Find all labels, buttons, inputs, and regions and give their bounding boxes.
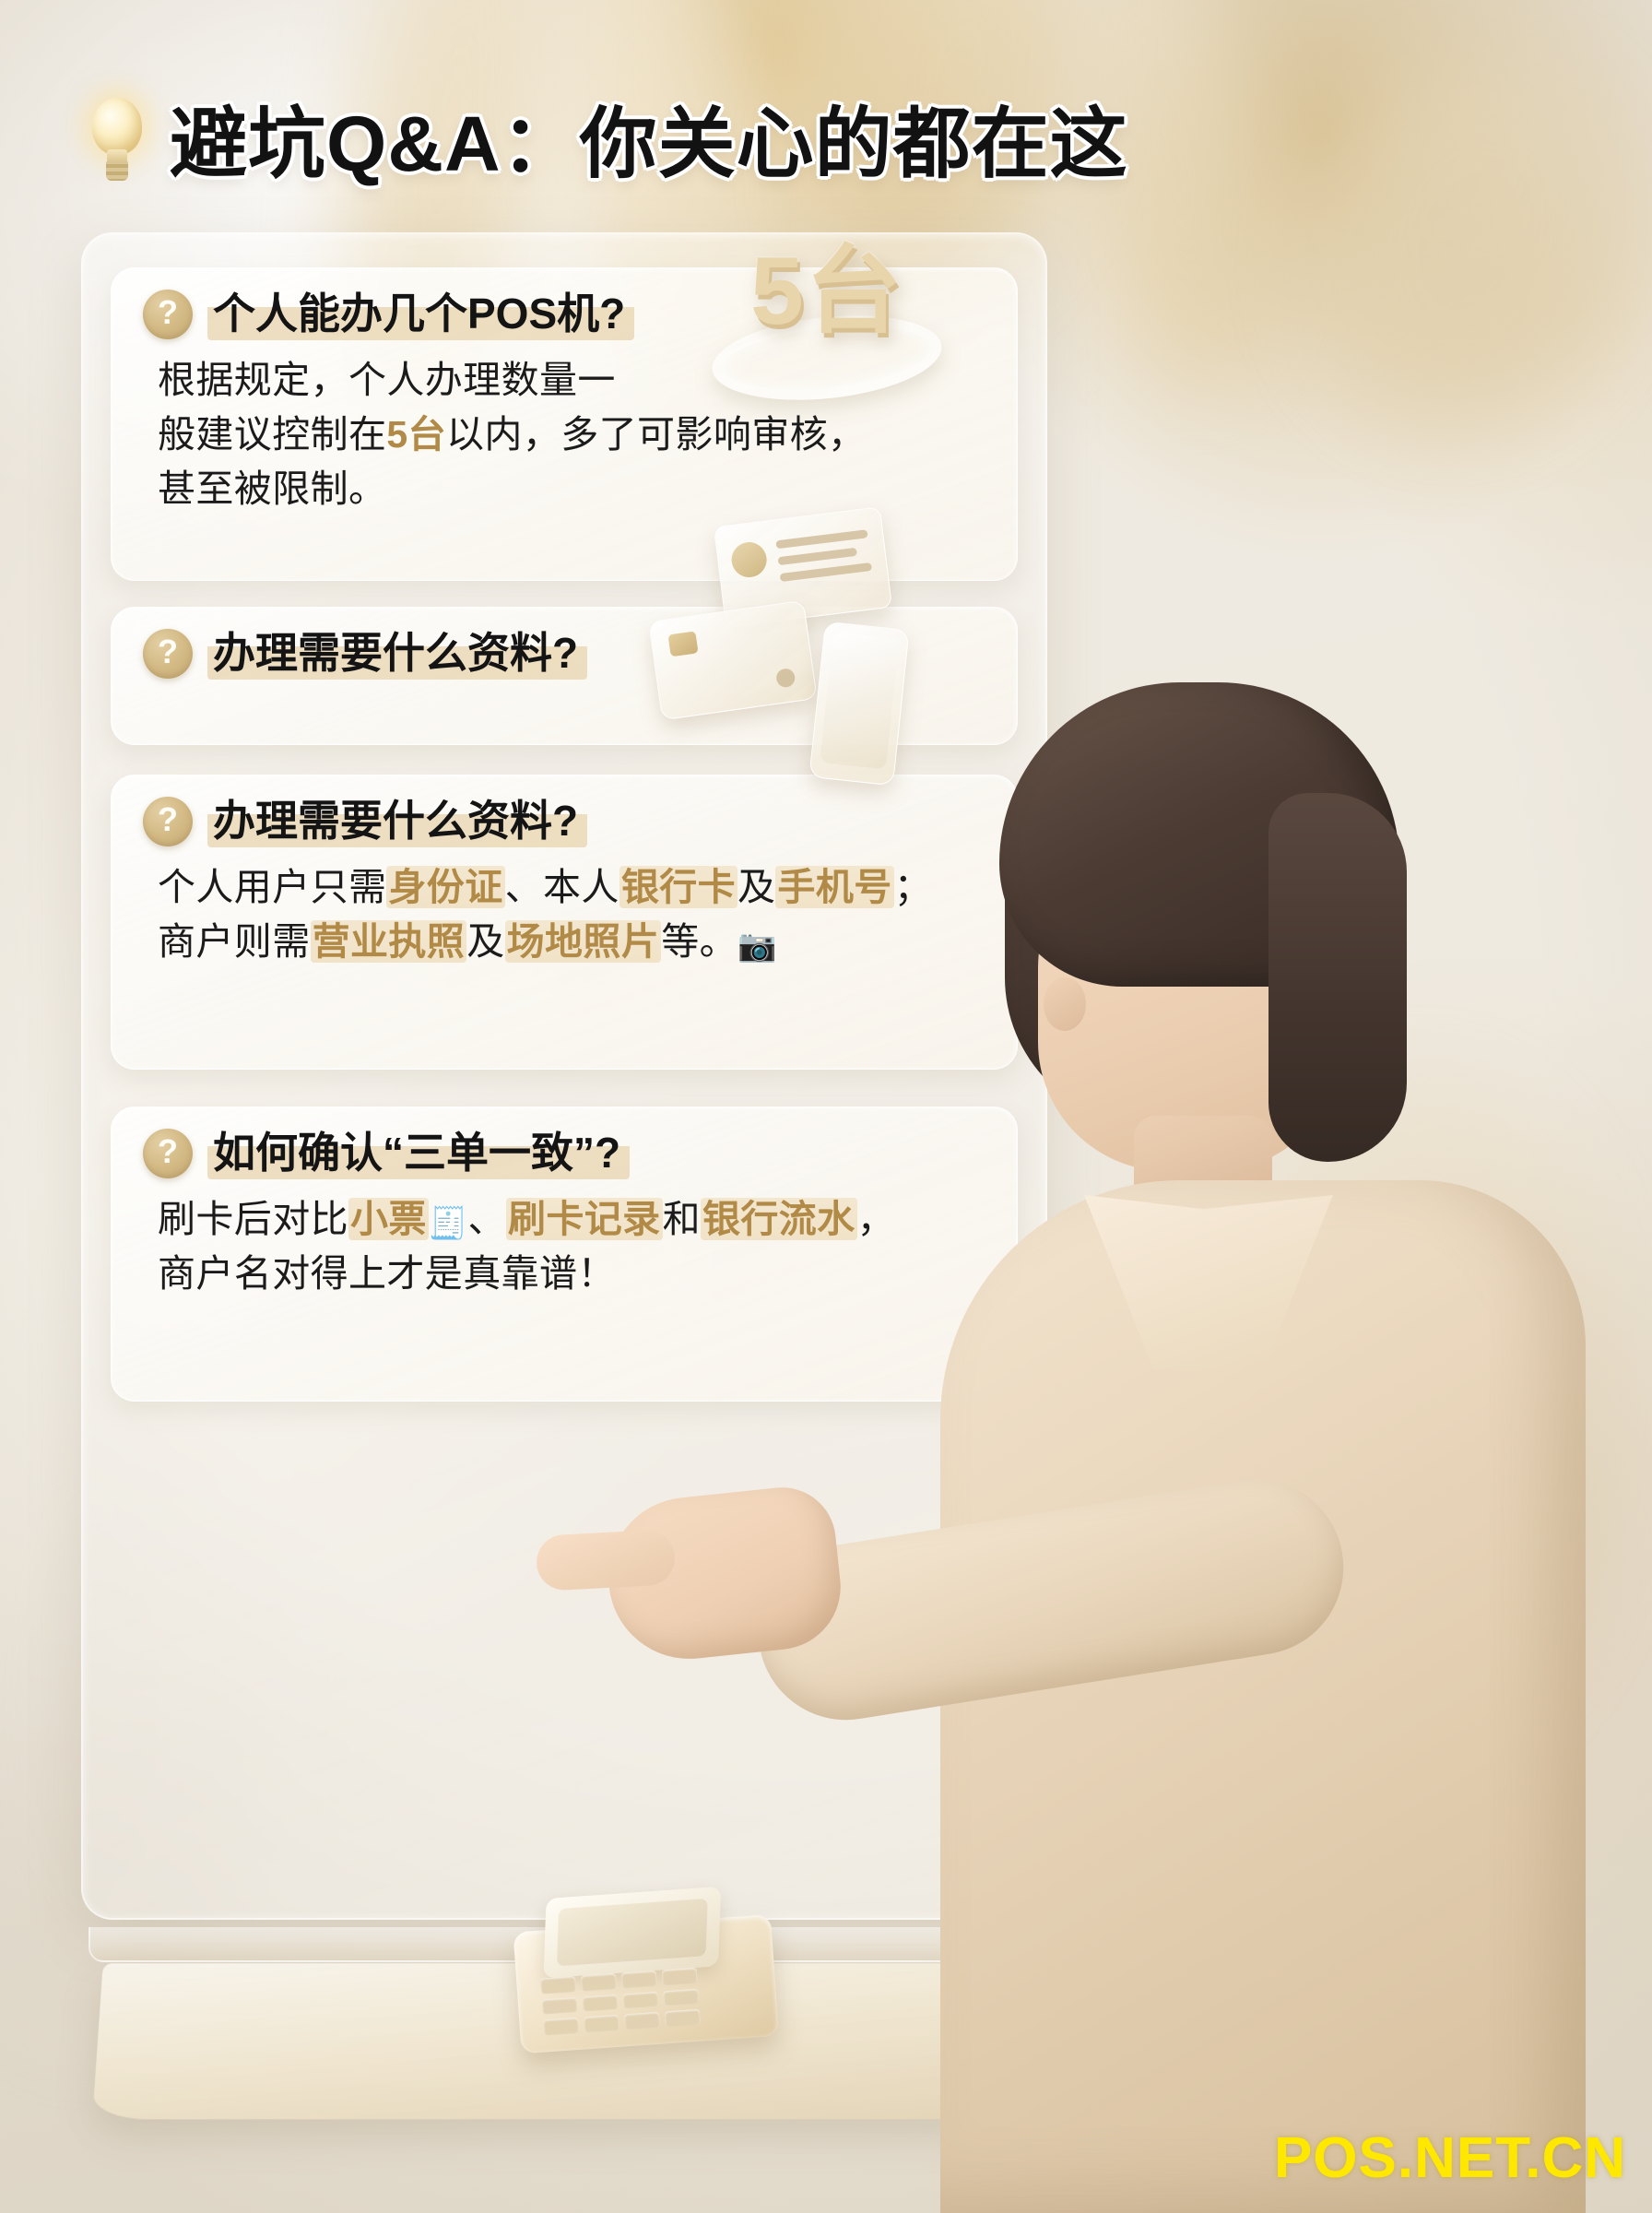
question-text: 如何确认“三单一致”? [207, 1128, 630, 1179]
answer-run: 及 [737, 866, 775, 908]
answer-highlight: 5台 [386, 413, 446, 456]
question-mark-icon: ? [143, 290, 193, 339]
question-mark-icon: ? [143, 797, 193, 846]
phone-icon [808, 621, 909, 787]
answer-run: 及 [466, 920, 504, 963]
lightbulb-icon [88, 96, 146, 192]
answer-highlight: 手机号 [775, 866, 893, 908]
answer-run: 、 [468, 1198, 506, 1240]
question-mark-icon: ? [143, 1129, 193, 1178]
answer-run: 以内，多了可影响审核， [446, 413, 866, 456]
question-row: ? 如何确认“三单一致”? [112, 1107, 1017, 1179]
answer-run: 般建议控制在 [158, 413, 386, 456]
question-text: 个人能办几个POS机? [207, 289, 634, 340]
question-text: 办理需要什么资料? [207, 628, 587, 680]
answer-run: 甚至被限制。 [158, 467, 386, 510]
five-units-decoration: 5台 [701, 238, 977, 413]
person-illustration [903, 682, 1652, 2213]
answer-highlight: 刷卡记录 [506, 1198, 663, 1240]
answer-run: 、本人 [505, 866, 619, 908]
answer-highlight: 营业执照 [311, 920, 467, 963]
answer-run: 根据规定，个人办理数量一 [158, 359, 616, 401]
question-text: 办理需要什么资料? [207, 796, 587, 847]
answer-line: 刷卡后对比小票🧾、刷卡记录和银行流水， [158, 1192, 980, 1247]
answer-line: 般建议控制在5台以内，多了可影响审核， [158, 408, 980, 462]
answer-highlight: 场地照片 [505, 920, 662, 963]
bank-card-icon [648, 600, 817, 721]
answer-text: 个人用户只需身份证、本人银行卡及手机号；商户则需营业执照及场地照片等。📷 [112, 847, 1017, 969]
answer-line: 个人用户只需身份证、本人银行卡及手机号； [158, 860, 980, 915]
answer-run: ， [857, 1198, 895, 1240]
answer-line: 商户则需营业执照及场地照片等。📷 [158, 915, 980, 969]
answer-run: 等。 [661, 920, 737, 963]
question-mark-icon: ? [143, 629, 193, 679]
page-title: 避坑Q&A：你关心的都在这 [170, 105, 1128, 183]
answer-run: 商户名对得上才是真靠谱！ [158, 1252, 616, 1295]
answer-run: 刷卡后对比 [158, 1198, 348, 1240]
page-title-row: 避坑Q&A：你关心的都在这 [88, 89, 1176, 199]
answer-run: 个人用户只需 [158, 866, 386, 908]
answer-run: 商户则需 [158, 920, 311, 963]
answer-highlight: 身份证 [386, 866, 504, 908]
inline-emoji: 📷 [737, 929, 777, 964]
qa-card[interactable]: ? 办理需要什么资料? 个人用户只需身份证、本人银行卡及手机号；商户则需营业执照… [111, 775, 1018, 1070]
documents-decoration [636, 516, 913, 793]
answer-run: 和 [663, 1198, 701, 1240]
qa-card[interactable]: ? 如何确认“三单一致”? 刷卡后对比小票🧾、刷卡记录和银行流水，商户名对得上才… [111, 1106, 1018, 1402]
answer-line: 商户名对得上才是真靠谱！ [158, 1247, 980, 1301]
answer-highlight: 银行流水 [701, 1198, 857, 1240]
inline-emoji: 🧾 [429, 1206, 468, 1241]
answer-highlight: 银行卡 [619, 866, 737, 908]
answer-text: 刷卡后对比小票🧾、刷卡记录和银行流水，商户名对得上才是真靠谱！ [112, 1179, 1017, 1301]
watermark: POS.NET.CN [1274, 2130, 1626, 2187]
pos-terminal-illustration [511, 1880, 826, 2067]
answer-highlight: 小票 [348, 1198, 429, 1240]
five-units-label: 5台 [750, 243, 903, 339]
